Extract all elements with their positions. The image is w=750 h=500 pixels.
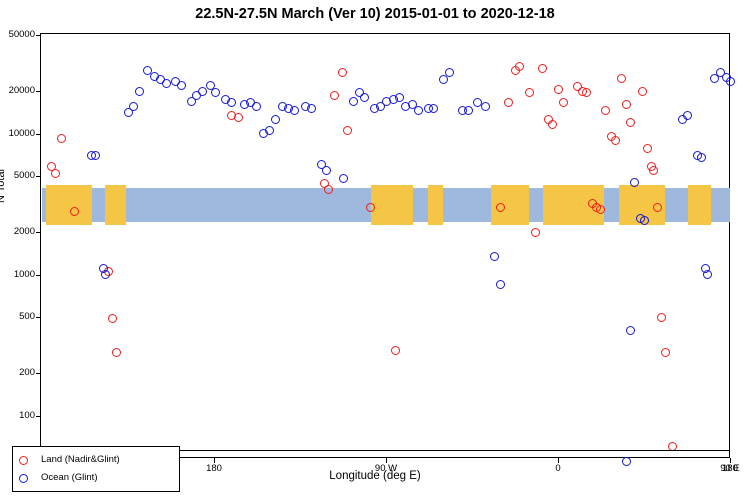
data-point-land xyxy=(596,205,605,214)
chart-page: 22.5N-27.5N March (Ver 10) 2015-01-01 to… xyxy=(0,0,750,500)
legend: Land (Nadir&Glint) Ocean (Glint) xyxy=(12,446,180,492)
data-point-land xyxy=(112,348,121,357)
data-point-ocean xyxy=(429,104,438,113)
y-tick-mark xyxy=(36,416,41,417)
data-point-ocean xyxy=(622,457,631,466)
plot-area-wrapper: 5010020050010002000500010000200005000090… xyxy=(40,33,730,458)
data-point-land xyxy=(57,134,66,143)
data-point-ocean xyxy=(349,97,358,106)
data-point-ocean xyxy=(322,166,331,175)
data-point-land xyxy=(611,136,620,145)
legend-label-ocean: Ocean (Glint) xyxy=(41,472,98,483)
data-point-ocean xyxy=(630,178,639,187)
y-tick-label: 1000 xyxy=(1,269,35,280)
land-band-segment xyxy=(428,185,443,225)
data-point-ocean xyxy=(129,102,138,111)
data-point-ocean xyxy=(162,79,171,88)
data-point-land xyxy=(70,207,79,216)
data-point-ocean xyxy=(640,216,649,225)
data-point-ocean xyxy=(439,75,448,84)
data-point-land xyxy=(108,314,117,323)
data-point-land xyxy=(51,169,60,178)
data-point-ocean xyxy=(726,77,735,86)
data-point-land xyxy=(366,203,375,212)
y-tick-label: 100 xyxy=(1,410,35,421)
data-point-ocean xyxy=(211,88,220,97)
data-point-ocean xyxy=(307,104,316,113)
data-point-land xyxy=(643,144,652,153)
legend-marker-ocean xyxy=(19,474,28,483)
data-point-land xyxy=(525,88,534,97)
data-point-land xyxy=(661,348,670,357)
data-point-ocean xyxy=(290,106,299,115)
data-point-land xyxy=(649,166,658,175)
y-tick-mark xyxy=(36,232,41,233)
data-point-ocean xyxy=(490,252,499,261)
data-point-ocean xyxy=(265,126,274,135)
data-point-land xyxy=(601,106,610,115)
land-band-segment xyxy=(46,185,92,225)
y-tick-mark xyxy=(36,134,41,135)
data-point-land xyxy=(622,100,631,109)
data-point-land xyxy=(496,203,505,212)
legend-label-land: Land (Nadir&Glint) xyxy=(41,454,120,465)
data-point-land xyxy=(657,313,666,322)
data-point-land xyxy=(343,126,352,135)
data-point-ocean xyxy=(135,87,144,96)
y-axis-label: N Total xyxy=(0,151,7,221)
data-point-ocean xyxy=(271,115,280,124)
data-point-ocean xyxy=(496,280,505,289)
data-point-land xyxy=(504,98,513,107)
y-tick-mark xyxy=(36,373,41,374)
data-point-ocean xyxy=(198,87,207,96)
data-point-land xyxy=(638,87,647,96)
y-tick-mark xyxy=(36,35,41,36)
y-tick-mark xyxy=(36,317,41,318)
data-point-ocean xyxy=(395,93,404,102)
data-point-land xyxy=(653,203,662,212)
data-point-land xyxy=(582,88,591,97)
data-point-land xyxy=(531,228,540,237)
data-point-land xyxy=(234,113,243,122)
data-point-ocean xyxy=(91,151,100,160)
data-point-land xyxy=(538,64,547,73)
y-tick-label: 50000 xyxy=(1,29,35,40)
y-tick-mark xyxy=(36,275,41,276)
data-point-ocean xyxy=(683,111,692,120)
data-point-land xyxy=(626,118,635,127)
chart-title: 22.5N-27.5N March (Ver 10) 2015-01-01 to… xyxy=(0,6,750,22)
y-tick-label: 10000 xyxy=(1,128,35,139)
y-tick-label: 20000 xyxy=(1,85,35,96)
land-band-segment xyxy=(105,185,126,225)
data-point-ocean xyxy=(339,174,348,183)
legend-marker-land xyxy=(19,456,28,465)
data-point-land xyxy=(338,68,347,77)
data-point-ocean xyxy=(252,102,261,111)
y-tick-label: 200 xyxy=(1,367,35,378)
data-point-ocean xyxy=(101,270,110,279)
land-band-segment xyxy=(688,185,711,225)
land-band-segment xyxy=(371,185,413,225)
data-point-ocean xyxy=(697,153,706,162)
data-point-land xyxy=(617,74,626,83)
data-point-ocean xyxy=(481,102,490,111)
data-point-land xyxy=(330,91,339,100)
data-point-ocean xyxy=(414,106,423,115)
data-point-land xyxy=(559,98,568,107)
y-tick-label: 2000 xyxy=(1,226,35,237)
data-point-ocean xyxy=(227,98,236,107)
data-point-ocean xyxy=(703,270,712,279)
data-point-ocean xyxy=(445,68,454,77)
y-tick-mark xyxy=(36,91,41,92)
plot-area: 5010020050010002000500010000200005000090… xyxy=(40,33,730,458)
data-point-ocean xyxy=(626,326,635,335)
data-point-ocean xyxy=(464,106,473,115)
data-point-land xyxy=(548,120,557,129)
data-point-land xyxy=(515,62,524,71)
data-point-ocean xyxy=(360,93,369,102)
y-tick-label: 500 xyxy=(1,311,35,322)
y-tick-mark xyxy=(36,176,41,177)
data-point-ocean xyxy=(177,81,186,90)
data-point-land xyxy=(554,85,563,94)
data-point-land xyxy=(391,346,400,355)
